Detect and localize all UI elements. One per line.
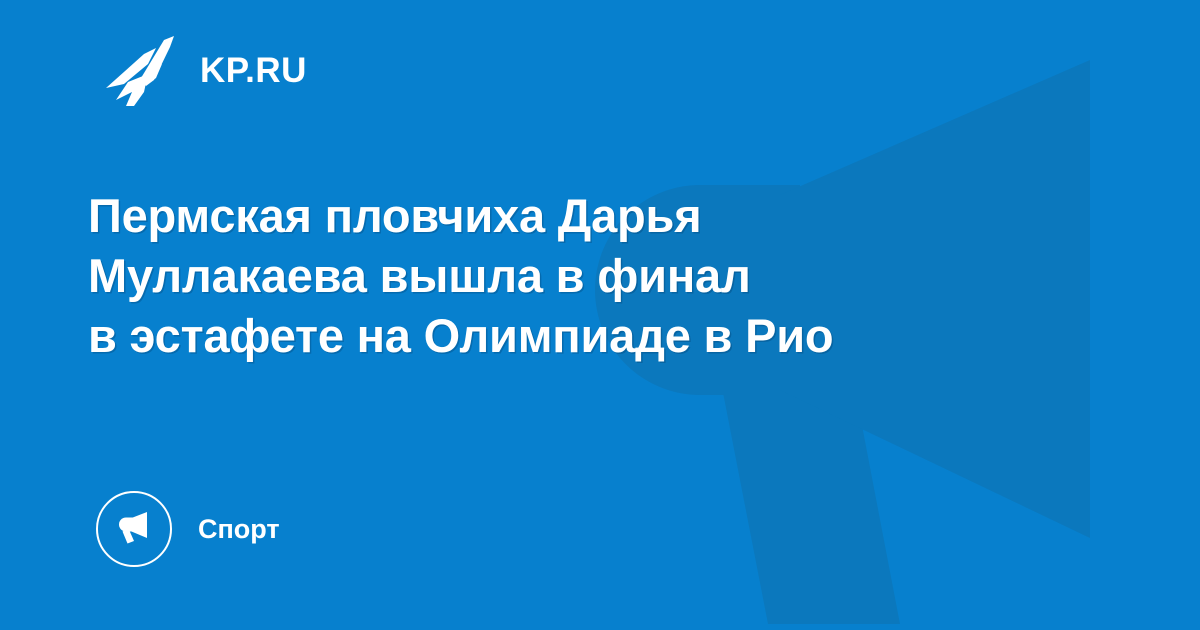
page-title: Пермская пловчиха Дарья Муллакаева вышла… — [88, 186, 1048, 366]
social-share-card: KP.RU Пермская пловчиха Дарья Муллакаева… — [0, 0, 1200, 630]
megaphone-icon — [113, 508, 155, 550]
site-header: KP.RU — [104, 34, 307, 106]
category-label: Спорт — [198, 516, 280, 543]
brand-wordmark: KP.RU — [200, 53, 307, 88]
headline-line-2: Муллакаева вышла в финал — [88, 246, 1048, 306]
headline-line-1: Пермская пловчиха Дарья — [88, 186, 1048, 246]
category-icon-circle — [96, 491, 172, 567]
swallow-bird-logo-icon[interactable] — [104, 34, 178, 106]
category-badge[interactable]: Спорт — [96, 491, 280, 567]
headline-line-3: в эстафете на Олимпиаде в Рио — [88, 306, 1048, 366]
